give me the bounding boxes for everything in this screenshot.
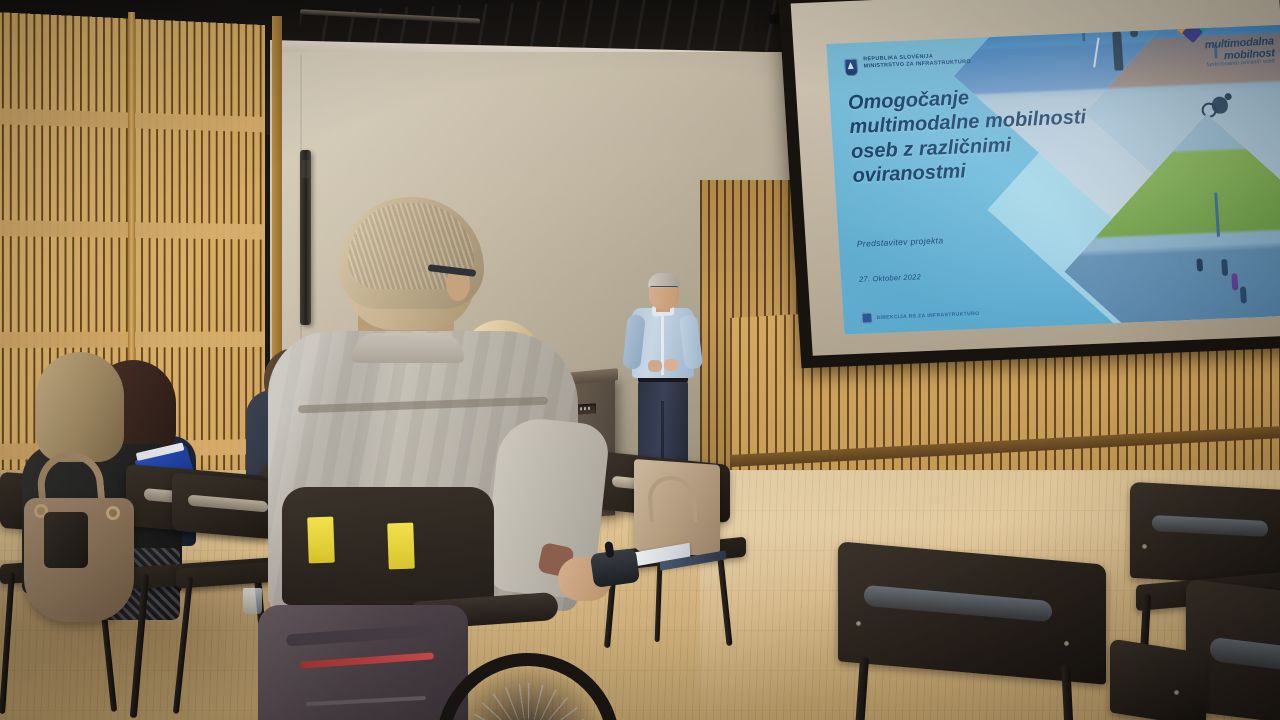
presentation-slide: REPUBLIKA SLOVENIJA MINISTRSTVO ZA INFRA…: [826, 25, 1280, 334]
handbag-ring: [106, 506, 120, 520]
pedestrian-figure: [1221, 258, 1228, 275]
chair-leg: [130, 574, 150, 718]
chair-screw: [1064, 641, 1069, 646]
slide-footer-text: DIREKCIJA RS ZA INFRASTRUKTURO: [876, 310, 979, 320]
presenter-left-hand: [648, 360, 662, 372]
user-collar: [352, 333, 464, 363]
logo-wordmark: multimodalna mobilnost funkcionalno ovir…: [1162, 36, 1276, 71]
chair-leg: [0, 572, 15, 714]
presenter-glasses-icon: [650, 286, 678, 291]
chair-screw: [1142, 544, 1147, 549]
attendee-hair: [36, 352, 124, 462]
conference-room-photo: REPUBLIKA SLOVENIJA MINISTRSTVO ZA INFRA…: [0, 0, 1280, 720]
yellow-reflector-strip: [387, 523, 415, 570]
folding-chair: [838, 553, 1106, 720]
slide-footer: DIREKCIJA RS ZA INFRASTRUKTURO: [861, 308, 980, 324]
slide-title: Omogočanje multimodalne mobilnosti oseb …: [847, 81, 1103, 189]
slide-date: 27. Oktober 2022: [859, 272, 921, 284]
pedestrian-figure: [1231, 273, 1238, 290]
wheelchair-user: [240, 205, 640, 720]
slide-ministry-lockup: REPUBLIKA SLOVENIJA MINISTRSTVO ZA INFRA…: [863, 52, 971, 71]
folding-chair: [1110, 646, 1206, 720]
chair-leg: [717, 558, 732, 646]
slide-subtitle: Predstavitev projekta: [857, 235, 944, 249]
chair-leg: [655, 560, 663, 642]
project-logo: multimodalna mobilnost funkcionalno ovir…: [1154, 25, 1279, 89]
chair-screw: [1174, 690, 1179, 695]
slovenia-coat-of-arms-icon: [844, 59, 858, 77]
projection-screen: REPUBLIKA SLOVENIJA MINISTRSTVO ZA INFRA…: [778, 0, 1280, 368]
presenter-right-hand: [664, 359, 678, 371]
chair-leg: [852, 657, 869, 720]
yellow-reflector-strip: [307, 517, 335, 564]
handbag-contents: [44, 512, 88, 568]
chair-backrest: [1110, 638, 1206, 720]
pedestrian-figure: [1240, 287, 1247, 304]
chair-screw: [856, 621, 861, 626]
agency-mark-icon: [861, 312, 873, 323]
chair-leg: [173, 576, 193, 714]
wheelchair-joystick[interactable]: [590, 548, 640, 588]
